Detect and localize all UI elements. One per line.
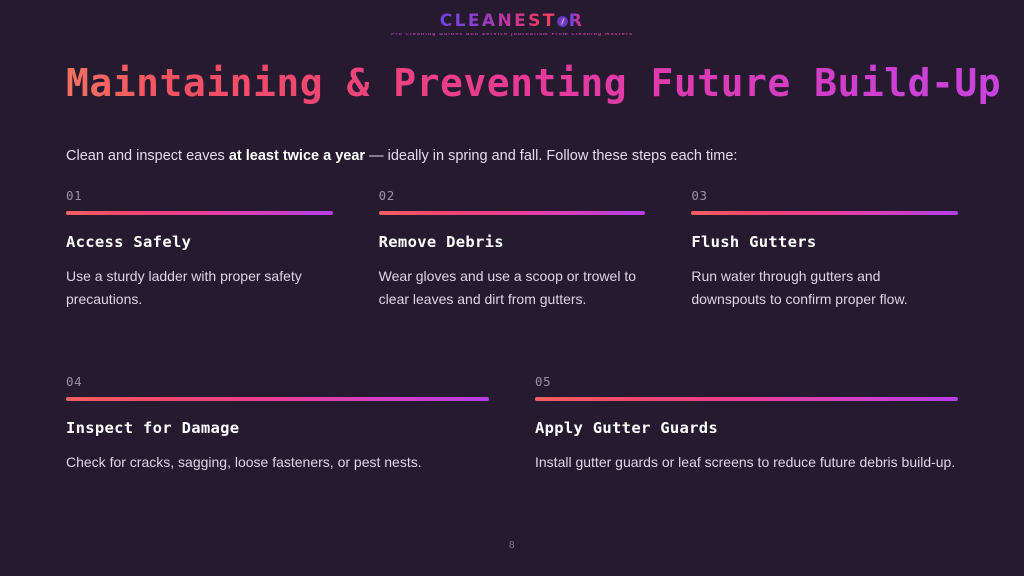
step-card-01: 01 Access Safely Use a sturdy ladder wit… [66,190,333,310]
step-number: 02 [379,190,646,203]
brand-name-part1: CLEANEST [440,13,557,30]
step-number: 03 [691,190,958,203]
step-title: Flush Gutters [691,233,958,252]
step-gradient-bar [66,211,333,215]
circle-badge-icon [557,16,568,27]
brand-name-part2: R [569,13,585,30]
intro-paragraph: Clean and inspect eaves at least twice a… [66,146,966,168]
step-gradient-bar [691,211,958,215]
step-gradient-bar [535,397,958,401]
step-body: Run water through gutters and downspouts… [691,265,958,310]
brand-logo: CLEANESTR Pro Cleaning Guides And Servic… [0,13,1024,38]
step-body: Install gutter guards or leaf screens to… [535,451,958,474]
brand-tagline: Pro Cleaning Guides And Service Journali… [0,33,1024,38]
slide-root: CLEANESTR Pro Cleaning Guides And Servic… [0,0,1024,576]
page-title: Maintaining & Preventing Future Build-Up [66,62,1001,106]
step-gradient-bar [379,211,646,215]
step-number: 01 [66,190,333,203]
step-card-02: 02 Remove Debris Wear gloves and use a s… [379,190,646,310]
intro-text-before: Clean and inspect eaves [66,148,229,164]
step-title: Apply Gutter Guards [535,419,958,438]
step-number: 04 [66,376,489,389]
step-card-05: 05 Apply Gutter Guards Install gutter gu… [535,376,958,474]
brand-logo-wordmark: CLEANESTR [0,13,1024,30]
steps-row-two: 04 Inspect for Damage Check for cracks, … [66,376,958,474]
intro-text-after: — ideally in spring and fall. Follow the… [365,148,737,164]
step-card-04: 04 Inspect for Damage Check for cracks, … [66,376,489,474]
step-body: Wear gloves and use a scoop or trowel to… [379,265,646,310]
step-title: Inspect for Damage [66,419,489,438]
step-number: 05 [535,376,958,389]
page-number: 8 [0,540,1024,551]
step-title: Access Safely [66,233,333,252]
intro-text-emphasis: at least twice a year [229,148,365,164]
step-body: Check for cracks, sagging, loose fastene… [66,451,489,474]
steps-row-one: 01 Access Safely Use a sturdy ladder wit… [66,190,958,310]
step-title: Remove Debris [379,233,646,252]
step-body: Use a sturdy ladder with proper safety p… [66,265,333,310]
step-card-03: 03 Flush Gutters Run water through gutte… [691,190,958,310]
step-gradient-bar [66,397,489,401]
